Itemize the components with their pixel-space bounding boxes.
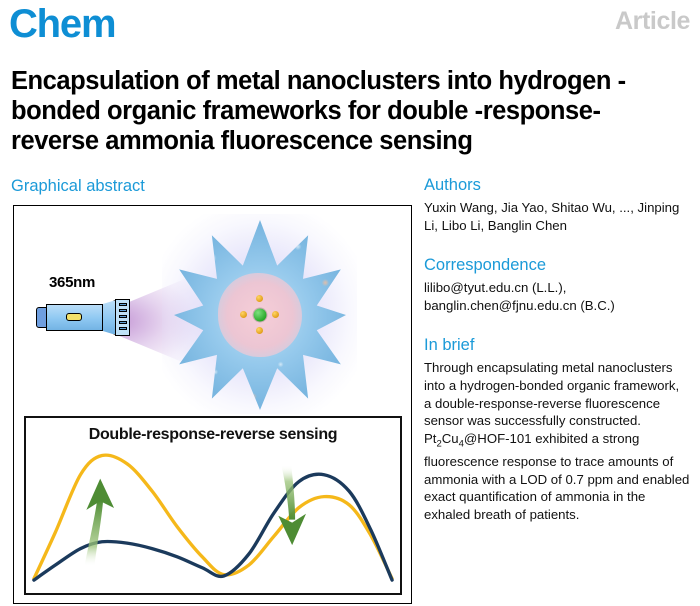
increase-arrow-icon <box>84 479 114 567</box>
article-type-label: Article <box>615 7 690 36</box>
journal-cover-page: Chem Article Encapsulation of metal nano… <box>0 0 700 606</box>
cu-atom-icon <box>272 311 279 318</box>
right-info-column: Authors Yuxin Wang, Jia Yao, Shitao Wu, … <box>424 176 690 523</box>
flashlight-button-icon <box>66 313 82 321</box>
excitation-wavelength-label: 365nm <box>49 274 95 291</box>
cu-atom-icon <box>256 295 263 302</box>
authors-heading: Authors <box>424 176 690 195</box>
graphical-abstract-panel: 365nm 443nm 640nm Pt2Cu4@HOF-101 Double-… <box>13 205 412 604</box>
flashlight-neck <box>102 300 116 335</box>
hof-framework-structure <box>174 220 346 410</box>
correspondence-emails[interactable]: lilibo@tyut.edu.cn (L.L.), banglin.chen@… <box>424 279 690 314</box>
in-brief-text: Through encapsulating metal nanoclusters… <box>424 359 690 523</box>
sensing-chart-panel: Double-response-reverse sensing <box>24 416 402 595</box>
graphical-abstract-heading: Graphical abstract <box>11 177 145 196</box>
cu-atom-icon <box>256 327 263 334</box>
journal-logo[interactable]: Chem <box>9 2 115 46</box>
flashlight-head <box>115 299 130 336</box>
structure-caption: Pt2Cu4@HOF-101 <box>27 600 412 604</box>
correspondence-heading: Correspondence <box>424 256 690 275</box>
authors-list: Yuxin Wang, Jia Yao, Shitao Wu, ..., Jin… <box>424 199 690 234</box>
masthead: Chem Article <box>0 0 700 52</box>
metal-nanocluster-core <box>218 273 302 357</box>
in-brief-heading: In brief <box>424 336 690 355</box>
uv-flashlight-icon <box>36 298 132 338</box>
sensing-chart-svg <box>26 418 400 593</box>
cu-atom-icon <box>240 311 247 318</box>
page-title: Encapsulation of metal nanoclusters into… <box>11 66 687 156</box>
graphical-abstract-illustration <box>14 206 411 434</box>
